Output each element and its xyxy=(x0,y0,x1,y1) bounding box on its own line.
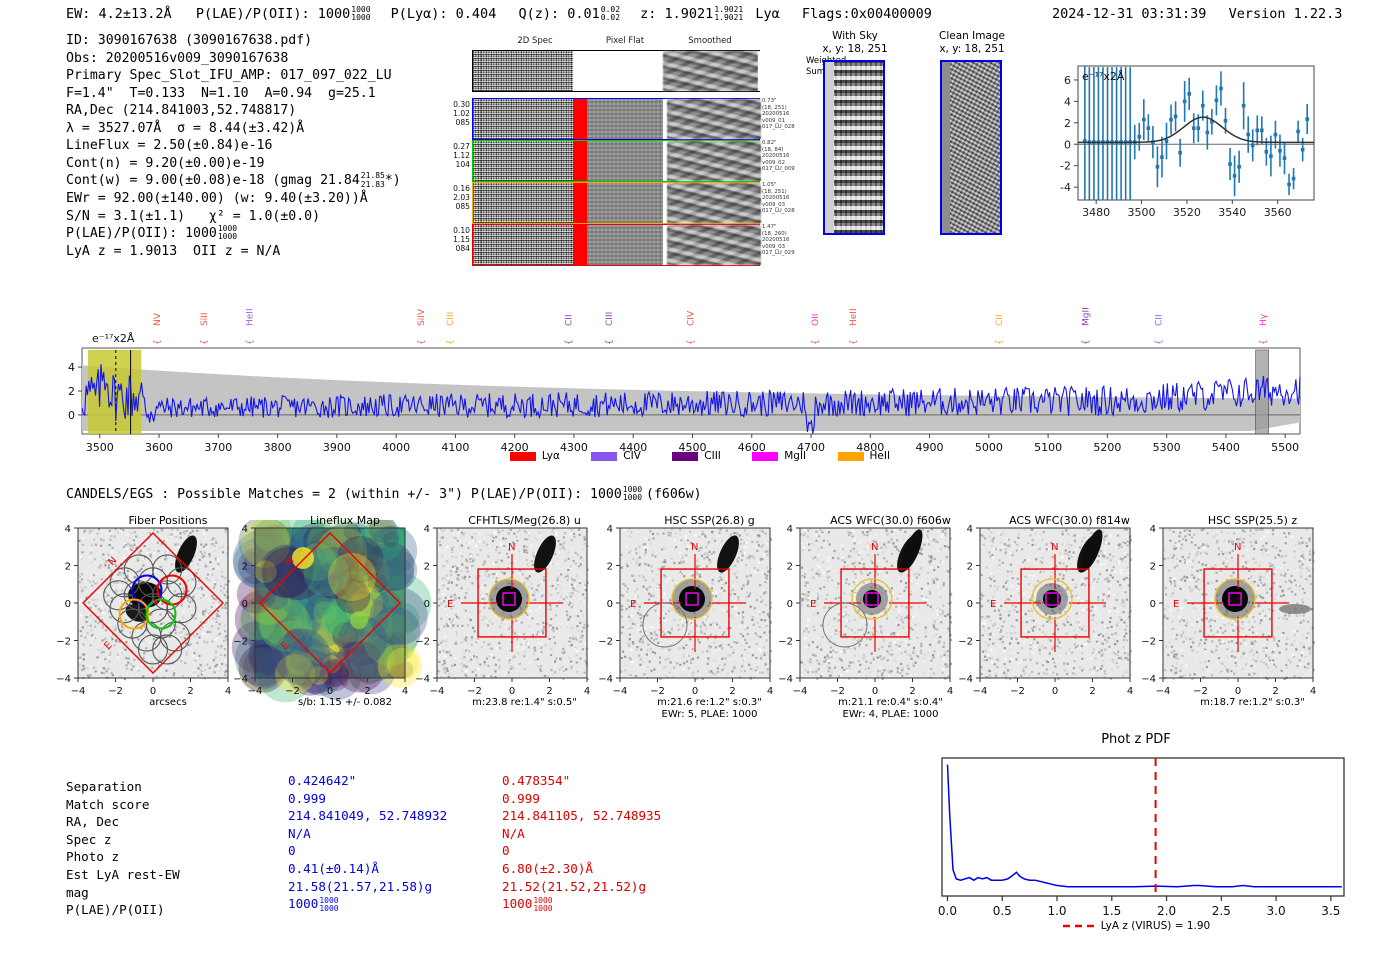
svg-text:0: 0 xyxy=(787,599,793,610)
match-table-labels: Separation Match score RA, Dec Spec z Ph… xyxy=(66,778,266,919)
svg-text:CIII: CIII xyxy=(605,312,615,326)
legend-swatch-ciii xyxy=(672,452,698,461)
header-qz-frac: 0.020.02 xyxy=(601,6,620,22)
svg-text:2: 2 xyxy=(607,562,613,573)
svg-text:e⁻¹⁷x2Å: e⁻¹⁷x2Å xyxy=(1082,70,1125,83)
svg-text:SiII: SiII xyxy=(200,312,210,326)
with-sky-title: With Skyx, y: 18, 251 xyxy=(800,30,910,55)
cutout-sub-lineflux-map: s/b: 1.15 +/- 0.082 xyxy=(255,697,435,708)
svg-text:2: 2 xyxy=(68,385,75,398)
two-d-spectrum-panel: 2D Spec Pixel Flat Smoothed Weighted Sum… xyxy=(430,36,770,256)
svg-text:N: N xyxy=(508,542,515,553)
svg-text:HeII: HeII xyxy=(849,308,859,326)
svg-text:e⁻¹⁷x2Å: e⁻¹⁷x2Å xyxy=(92,332,135,345)
cutout-sub-acs-f606w: m:21.1 re:0.4" s:0.4" xyxy=(793,697,988,708)
full-spectrum-panel: 3500360037003800390040004100420043004400… xyxy=(0,300,1400,460)
photz-pdf-panel: 0.00.51.01.52.02.53.03.5 xyxy=(920,748,1360,938)
svg-text:4: 4 xyxy=(68,361,75,374)
fiber-row-1-left-label: 0.301.02085 xyxy=(430,100,470,128)
header-plae-frac: 10001000 xyxy=(351,6,370,22)
col-header-2d-spec: 2D Spec xyxy=(490,36,580,46)
legend-swatch-heii xyxy=(838,452,864,461)
info-seeing: F=1.4" T=0.133 N=1.10 A=0.94 g=25.1 xyxy=(66,85,401,103)
svg-text:N: N xyxy=(283,555,296,568)
svg-text:−2: −2 xyxy=(56,637,71,648)
svg-text:−2: −2 xyxy=(598,637,613,648)
fiber-row-1-right-label: 0.73"(18, 251)20200516v009_01017_LU_028 xyxy=(762,98,818,131)
header-z-label: z: 1.9021 xyxy=(640,6,713,22)
header-z-frac: 1.90211.9021 xyxy=(714,6,743,22)
svg-text:{: { xyxy=(417,339,427,345)
svg-text:E: E xyxy=(447,599,453,610)
legend-item-lya: Lyα xyxy=(510,450,560,462)
photz-svg: 0.00.51.01.52.02.53.03.5 xyxy=(920,748,1360,938)
svg-text:N: N xyxy=(106,555,119,568)
svg-text:−2: −2 xyxy=(650,686,665,697)
info-lineflux: LineFlux = 2.50(±0.84)e-16 xyxy=(66,137,401,155)
svg-text:{: { xyxy=(605,339,615,345)
info-primary-spec: Primary Spec_Slot_IFU_AMP: 017_097_022_L… xyxy=(66,67,401,85)
cutout-title-hsc-g: HSC SSP(26.8) g xyxy=(617,514,802,527)
svg-text:{: { xyxy=(1259,339,1269,345)
svg-text:0: 0 xyxy=(68,409,75,422)
svg-text:0: 0 xyxy=(692,686,698,697)
fiber-row-1 xyxy=(472,98,760,140)
cutout-title-acs-f606w: ACS WFC(30.0) f606w xyxy=(793,514,988,527)
svg-text:-4: -4 xyxy=(1060,181,1071,194)
header-summary-line: EW: 4.2±13.2Å P(LAE)/P(OII): 10001000100… xyxy=(66,6,932,22)
detection-info-block: ID: 3090167638 (3090167638.pdf) Obs: 202… xyxy=(66,32,401,260)
svg-text:0: 0 xyxy=(242,599,248,610)
svg-text:NV: NV xyxy=(153,312,163,326)
spectrum-legend: Lyα CIV CIII MgII HeII xyxy=(0,450,1400,462)
svg-text:{: { xyxy=(1154,339,1164,345)
svg-text:2: 2 xyxy=(729,686,735,697)
cutout-sub-hsc-z: m:18.7 re:1.2" s:0.3" xyxy=(1160,697,1345,708)
svg-text:SiIV: SiIV xyxy=(417,308,427,326)
svg-text:0: 0 xyxy=(607,599,613,610)
col-header-smoothed: Smoothed xyxy=(665,36,755,46)
svg-text:−4: −4 xyxy=(793,686,808,697)
svg-text:−2: −2 xyxy=(778,637,793,648)
svg-text:−4: −4 xyxy=(415,674,430,685)
svg-text:{: { xyxy=(246,339,256,345)
svg-text:4: 4 xyxy=(402,686,408,697)
svg-text:E: E xyxy=(279,640,291,652)
svg-text:−2: −2 xyxy=(830,686,845,697)
weighted-sum-row xyxy=(472,50,760,92)
header-plya: P(Lyα): 0.404 xyxy=(391,6,497,22)
cutout-sub2-acs-f606w: EWr: 4, PLAE: 1000 xyxy=(793,709,988,720)
header-ew: EW: 4.2±13.2Å xyxy=(66,6,172,22)
cutout-title-cfhtls-u: CFHTLS/Meg(26.8) u xyxy=(432,514,617,527)
cutout-title-hsc-z: HSC SSP(25.5) z xyxy=(1160,514,1345,527)
svg-text:N: N xyxy=(691,542,698,553)
svg-text:−4: −4 xyxy=(430,686,445,697)
svg-text:2: 2 xyxy=(242,562,248,573)
info-sn: S/N = 3.1(±1.1) χ² = 1.0(±0.0) xyxy=(66,208,401,226)
clean-image-title: Clean Imagex, y: 18, 251 xyxy=(912,30,1032,55)
svg-text:{: { xyxy=(1081,339,1091,345)
legend-item-heii: HeII xyxy=(838,450,891,462)
svg-text:4: 4 xyxy=(65,524,71,535)
cutout-sub-fiber-positions: arcsecs xyxy=(78,697,258,708)
svg-text:CIII: CIII xyxy=(446,312,456,326)
svg-text:E: E xyxy=(102,640,114,652)
svg-text:2: 2 xyxy=(909,686,915,697)
info-radec: RA,Dec (214.841003,52.748817) xyxy=(66,102,401,120)
cutout-title-fiber-positions: Fiber Positions xyxy=(78,514,258,527)
info-cont-n: Cont(n) = 9.20(±0.00)e-19 xyxy=(66,155,401,173)
svg-text:{: { xyxy=(811,339,821,345)
header-flags: Flags:0x00400009 xyxy=(802,6,932,22)
svg-text:−4: −4 xyxy=(233,674,248,685)
cutout-sub-cfhtls-u: m:23.8 re:1.4" s:0.5" xyxy=(432,697,617,708)
svg-text:3500: 3500 xyxy=(1128,206,1156,219)
header-timestamp-version: 2024-12-31 03:31:39 Version 1.22.3 xyxy=(1052,6,1342,22)
svg-text:CIV: CIV xyxy=(687,310,697,326)
svg-text:−4: −4 xyxy=(778,674,793,685)
fiber-row-3 xyxy=(472,182,760,224)
svg-text:4: 4 xyxy=(584,686,590,697)
svg-text:−2: −2 xyxy=(233,637,248,648)
col-header-pixel-flat: Pixel Flat xyxy=(580,36,670,46)
svg-text:−4: −4 xyxy=(613,686,628,697)
info-wavelength: λ = 3527.07Å σ = 8.44(±3.42)Å xyxy=(66,120,401,138)
legend-item-civ: CIV xyxy=(591,450,641,462)
legend-swatch-mgii xyxy=(752,452,778,461)
emission-line-fit-plot: 34803500352035403560-4-20246e⁻¹⁷x2Å xyxy=(1042,58,1322,210)
header-version: Version 1.22.3 xyxy=(1229,6,1343,22)
svg-text:{: { xyxy=(995,339,1005,345)
svg-text:E: E xyxy=(630,599,636,610)
svg-text:OII: OII xyxy=(811,314,821,326)
svg-text:0: 0 xyxy=(509,686,515,697)
svg-text:{: { xyxy=(849,339,859,345)
svg-text:{: { xyxy=(565,339,575,345)
photz-legend: LyA z (VIRUS) = 1.90 xyxy=(936,920,1336,932)
svg-text:−2: −2 xyxy=(108,686,123,697)
fiber-row-4-left-label: 0.101.15084 xyxy=(430,226,470,254)
cutout-sub-hsc-g: m:21.6 re:1.2" s:0.3" xyxy=(617,697,802,708)
svg-text:{: { xyxy=(153,339,163,345)
legend-item-mgii: MgII xyxy=(752,450,806,462)
svg-text:−2: −2 xyxy=(467,686,482,697)
svg-text:Hγ: Hγ xyxy=(1259,313,1269,326)
info-plae: P(LAE)/P(OII): 100010001000 xyxy=(66,225,401,243)
svg-text:0: 0 xyxy=(150,686,156,697)
svg-text:{: { xyxy=(200,339,210,345)
cutout-title-acs-f814w: ACS WFC(30.0) f814w xyxy=(972,514,1167,527)
header-z-species: Lyα xyxy=(755,6,779,22)
candels-match-summary: CANDELS/EGS : Possible Matches = 2 (with… xyxy=(66,486,702,502)
svg-text:3540: 3540 xyxy=(1218,206,1246,219)
info-id: ID: 3090167638 (3090167638.pdf) xyxy=(66,32,401,50)
fiber-row-2-left-label: 0.271.12104 xyxy=(430,142,470,170)
svg-text:0: 0 xyxy=(424,599,430,610)
photz-legend-dash-icon xyxy=(1062,921,1096,931)
svg-text:2: 2 xyxy=(1064,117,1071,130)
svg-text:−2: −2 xyxy=(285,686,300,697)
cutout-title-lineflux-map: Lineflux Map xyxy=(255,514,435,527)
svg-text:4: 4 xyxy=(947,686,953,697)
clean-image-cutout xyxy=(940,60,1002,235)
svg-text:4: 4 xyxy=(225,686,231,697)
svg-text:−4: −4 xyxy=(71,686,86,697)
svg-text:2: 2 xyxy=(546,686,552,697)
legend-swatch-civ xyxy=(591,452,617,461)
svg-text:HeII: HeII xyxy=(246,308,256,326)
svg-text:0: 0 xyxy=(65,599,71,610)
info-obs: Obs: 20200516v009_3090167638 xyxy=(66,50,401,68)
svg-text:CII: CII xyxy=(565,314,575,326)
svg-text:4: 4 xyxy=(767,686,773,697)
svg-text:−4: −4 xyxy=(598,674,613,685)
match-table-column-red: 0.478354" 0.999 214.841105, 52.748935 N/… xyxy=(502,772,762,913)
svg-text:3480: 3480 xyxy=(1082,206,1110,219)
svg-text:4: 4 xyxy=(1064,95,1071,108)
svg-text:2: 2 xyxy=(187,686,193,697)
fiber-row-3-left-label: 0.162.03085 xyxy=(430,184,470,212)
svg-text:N: N xyxy=(871,542,878,553)
svg-text:2: 2 xyxy=(424,562,430,573)
svg-text:2: 2 xyxy=(787,562,793,573)
svg-text:{: { xyxy=(687,339,697,345)
svg-text:2: 2 xyxy=(65,562,71,573)
fiber-row-4 xyxy=(472,224,760,266)
line-fit-svg: 34803500352035403560-4-20246e⁻¹⁷x2Å xyxy=(1042,58,1322,248)
svg-text:−2: −2 xyxy=(415,637,430,648)
legend-swatch-lya xyxy=(510,452,536,461)
info-cont-w: Cont(w) = 9.00(±0.08)e-18 (gmag 21.8421.… xyxy=(66,172,401,190)
svg-text:E: E xyxy=(810,599,816,610)
svg-text:CII: CII xyxy=(1154,314,1164,326)
svg-text:2: 2 xyxy=(364,686,370,697)
svg-text:0: 0 xyxy=(872,686,878,697)
fiber-row-2-right-label: 0.82"(18, 84)20200516v009_02017_LU_009 xyxy=(762,140,818,173)
svg-text:-2: -2 xyxy=(1060,160,1071,173)
fiber-row-3-right-label: 1.05"(18, 251)20200516v009_03017_LU_028 xyxy=(762,182,818,215)
svg-text:0: 0 xyxy=(327,686,333,697)
svg-text:{: { xyxy=(446,339,456,345)
info-redshifts: LyA z = 1.9013 OII z = N/A xyxy=(66,243,401,261)
cutout-sub2-hsc-g: EWr: 5, PLAE: 1000 xyxy=(617,709,802,720)
svg-text:0: 0 xyxy=(1064,138,1071,151)
header-plae-label: P(LAE)/P(OII): 1000 xyxy=(196,6,350,22)
header-timestamp: 2024-12-31 03:31:39 xyxy=(1052,6,1206,22)
svg-text:CII: CII xyxy=(995,314,1005,326)
legend-item-ciii: CIII xyxy=(672,450,721,462)
fiber-row-4-right-label: 1.47"(18, 260)20200516v009_03017_LU_029 xyxy=(762,224,818,257)
with-sky-cutout xyxy=(823,60,885,235)
photz-pdf-title: Phot z PDF xyxy=(936,732,1336,747)
svg-text:3520: 3520 xyxy=(1173,206,1201,219)
svg-text:3560: 3560 xyxy=(1264,206,1292,219)
svg-text:MgII: MgII xyxy=(1081,307,1091,326)
svg-text:−4: −4 xyxy=(56,674,71,685)
info-ewr: EWr = 92.00(±140.00) (w: 9.40(±3.20))Å xyxy=(66,190,401,208)
fiber-row-2 xyxy=(472,140,760,182)
svg-text:−4: −4 xyxy=(248,686,263,697)
header-qz-label: Q(z): 0.01 xyxy=(518,6,599,22)
spectrum-svg: 3500360037003800390040004100420043004400… xyxy=(0,300,1400,460)
svg-text:6: 6 xyxy=(1064,74,1071,87)
